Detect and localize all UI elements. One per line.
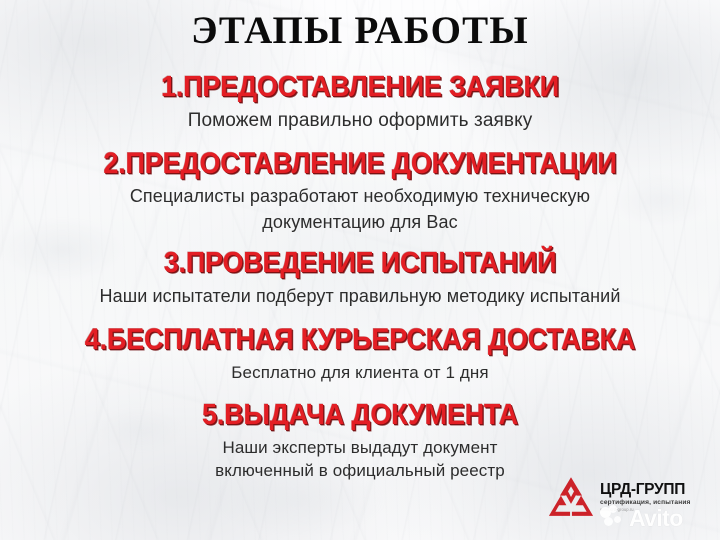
step-subtitle-2-line-2: документацию для Вас — [8, 209, 712, 235]
logo-text-group: ЦРД-ГРУПП сертификация, испытания www.cr… — [600, 482, 691, 512]
step-block-5: 5.ВЫДАЧА ДОКУМЕНТА Наши эксперты выдадут… — [8, 398, 712, 482]
triangle-chevron-logo-icon — [548, 477, 594, 517]
step-subtitle-1-line-1: Поможем правильно оформить заявку — [8, 108, 712, 133]
step-subtitle-2-line-1: Специалисты разработают необходимую техн… — [8, 183, 712, 209]
step-block-1: 1.ПРЕДОСТАВЛЕНИЕ ЗАЯВКИ Поможем правильн… — [8, 70, 712, 133]
step-heading-2: 2.ПРЕДОСТАВЛЕНИЕ ДОКУМЕНТАЦИИ — [43, 146, 677, 181]
step-block-4: 4.БЕСПЛАТНАЯ КУРЬЕРСКАЯ ДОСТАВКА Бесплат… — [8, 322, 712, 385]
step-subtitle-4-line-1: Бесплатно для клиента от 1 дня — [8, 361, 712, 385]
page-title: ЭТАПЫ РАБОТЫ — [8, 8, 712, 54]
logo-url: www.crd-group.ru — [600, 508, 691, 512]
step-heading-4: 4.БЕСПЛАТНАЯ КУРЬЕРСКАЯ ДОСТАВКА — [43, 322, 677, 357]
poster-canvas: ЭТАПЫ РАБОТЫ 1.ПРЕДОСТАВЛЕНИЕ ЗАЯВКИ Пом… — [0, 0, 720, 540]
step-block-2: 2.ПРЕДОСТАВЛЕНИЕ ДОКУМЕНТАЦИИ Специалист… — [8, 146, 712, 235]
step-heading-3: 3.ПРОВЕДЕНИЕ ИСПЫТАНИЙ — [33, 246, 688, 280]
poster-content: ЭТАПЫ РАБОТЫ 1.ПРЕДОСТАВЛЕНИЕ ЗАЯВКИ Пом… — [0, 0, 720, 540]
step-heading-5: 5.ВЫДАЧА ДОКУМЕНТА — [33, 398, 688, 432]
step-subtitle-3-line-1: Наши испытатели подберут правильную мето… — [8, 284, 712, 309]
step-subtitle-5-line-1: Наши эксперты выдадут документ — [8, 436, 712, 459]
step-heading-1: 1.ПРЕДОСТАВЛЕНИЕ ЗАЯВКИ — [33, 70, 688, 104]
logo-company-name: ЦРД-ГРУПП — [600, 482, 691, 498]
company-logo: ЦРД-ГРУПП сертификация, испытания www.cr… — [548, 477, 691, 517]
logo-tagline: сертификация, испытания — [600, 500, 691, 507]
step-block-3: 3.ПРОВЕДЕНИЕ ИСПЫТАНИЙ Наши испытатели п… — [8, 246, 712, 309]
